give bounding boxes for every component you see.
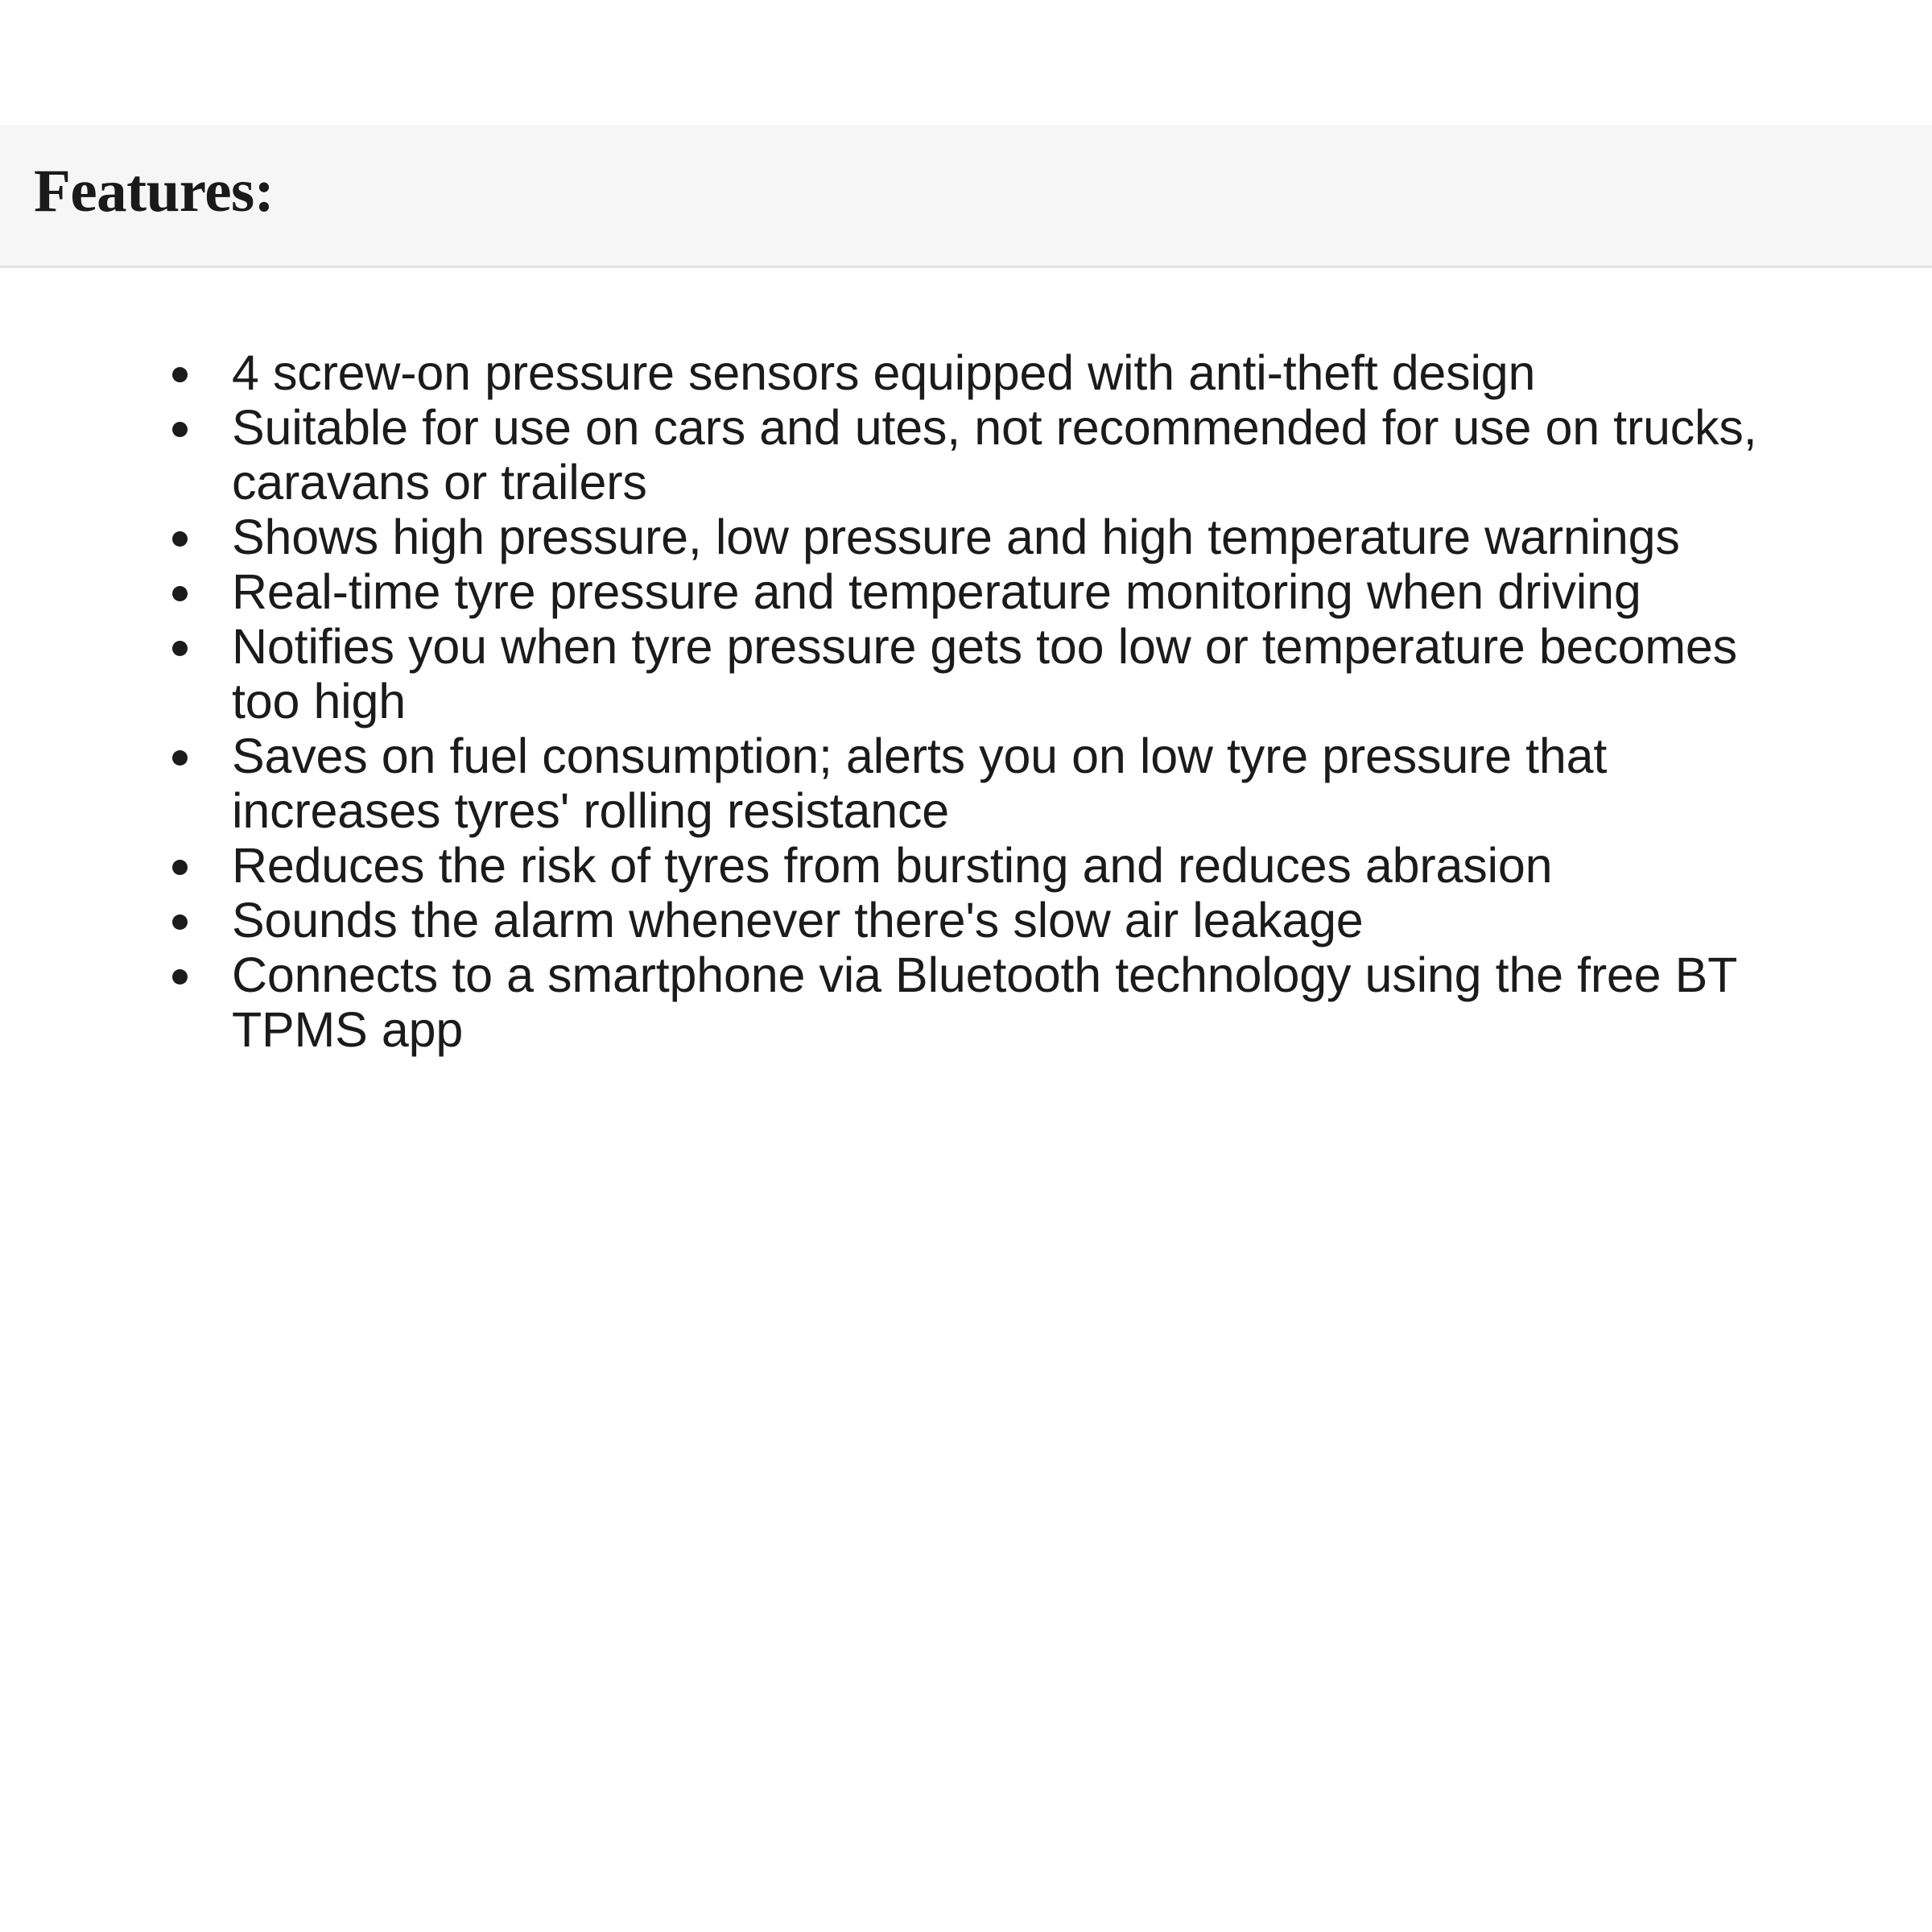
list-item-label: Suitable for use on cars and utes, not r… (232, 400, 1795, 510)
bullet-icon (172, 586, 188, 601)
list-item-label: 4 screw-on pressure sensors equipped wit… (232, 345, 1795, 400)
bullet-icon (172, 914, 188, 930)
bullet-icon (172, 531, 188, 547)
bullet-icon (172, 860, 188, 875)
list-item-label: Saves on fuel consumption; alerts you on… (232, 729, 1795, 838)
list-item-label: Notifies you when tyre pressure gets too… (232, 619, 1795, 729)
list-item: Reduces the risk of tyres from bursting … (0, 838, 1932, 893)
product-features-page: Features: 4 screw-on pressure sensors eq… (0, 0, 1932, 1932)
bullet-icon (172, 969, 188, 985)
bullet-icon (172, 750, 188, 766)
list-item-label: Sounds the alarm whenever there's slow a… (232, 893, 1795, 947)
bullet-icon (172, 367, 188, 382)
list-item-label: Connects to a smartphone via Bluetooth t… (232, 947, 1795, 1057)
page-title: Features: (34, 160, 1932, 224)
list-item: Notifies you when tyre pressure gets too… (0, 619, 1932, 729)
top-spacer (0, 0, 1932, 125)
list-item: Shows high pressure, low pressure and hi… (0, 510, 1932, 564)
features-section-header: Features: (0, 125, 1932, 268)
list-item: Saves on fuel consumption; alerts you on… (0, 729, 1932, 838)
list-item: Real-time tyre pressure and temperature … (0, 564, 1932, 619)
list-item-label: Real-time tyre pressure and temperature … (232, 564, 1795, 619)
bullet-icon (172, 641, 188, 656)
list-item: Suitable for use on cars and utes, not r… (0, 400, 1932, 510)
list-item: Sounds the alarm whenever there's slow a… (0, 893, 1932, 947)
list-item-label: Shows high pressure, low pressure and hi… (232, 510, 1795, 564)
list-item: Connects to a smartphone via Bluetooth t… (0, 947, 1932, 1057)
list-item: 4 screw-on pressure sensors equipped wit… (0, 345, 1932, 400)
bullet-icon (172, 422, 188, 437)
features-section-body: 4 screw-on pressure sensors equipped wit… (0, 268, 1932, 1057)
list-item-label: Reduces the risk of tyres from bursting … (232, 838, 1795, 893)
feature-list: 4 screw-on pressure sensors equipped wit… (0, 268, 1932, 1057)
